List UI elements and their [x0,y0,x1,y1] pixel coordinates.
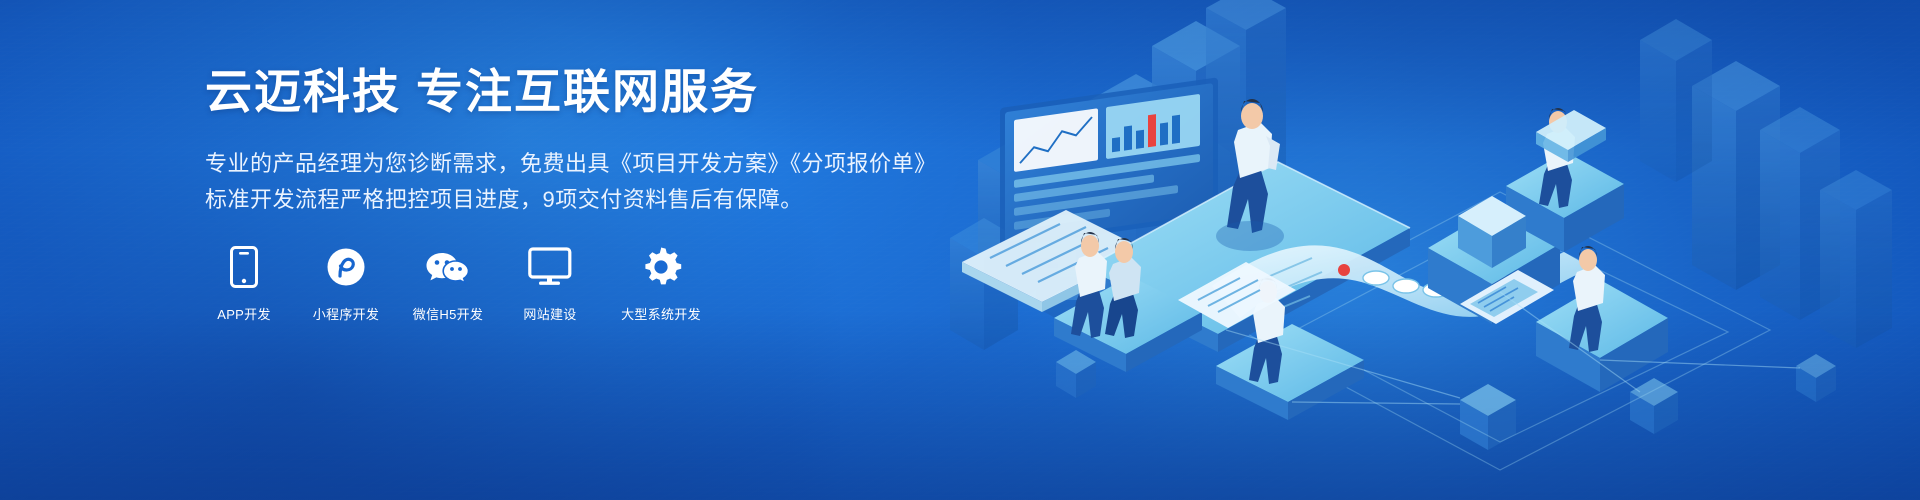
service-item-website[interactable]: 网站建设 [511,244,589,323]
mobile-phone-icon [230,244,258,290]
wechat-icon [425,244,471,290]
gear-icon [640,244,682,290]
service-item-wechat[interactable]: 微信H5开发 [409,244,487,323]
subtitle-line-1: 专业的产品经理为您诊断需求，免费出具《项目开发方案》《分项报价单》 [205,146,965,182]
service-item-app[interactable]: APP开发 [205,244,283,323]
service-label-wechat: 微信H5开发 [413,304,483,323]
service-item-system[interactable]: 大型系统开发 [613,244,709,323]
subtitle-block: 专业的产品经理为您诊断需求，免费出具《项目开发方案》《分项报价单》 标准开发流程… [205,146,965,217]
subtitle-line-2: 标准开发流程严格把控项目进度，9项交付资料售后有保障。 [205,182,965,218]
isometric-illustration [940,0,1920,500]
service-label-website: 网站建设 [523,304,576,323]
page-title: 云迈科技 专注互联网服务 [205,64,965,120]
hero-banner: 云迈科技 专注互联网服务 专业的产品经理为您诊断需求，免费出具《项目开发方案》《… [0,0,1920,500]
mini-program-icon [326,244,366,290]
monitor-icon [528,244,572,290]
service-label-app: APP开发 [217,304,271,323]
service-item-miniprogram[interactable]: 小程序开发 [307,244,385,323]
service-label-system: 大型系统开发 [621,304,701,323]
service-label-miniprogram: 小程序开发 [313,304,380,323]
banner-content: 云迈科技 专注互联网服务 专业的产品经理为您诊断需求，免费出具《项目开发方案》《… [205,64,965,323]
service-icon-row: APP开发 小程序开发 [205,244,965,323]
